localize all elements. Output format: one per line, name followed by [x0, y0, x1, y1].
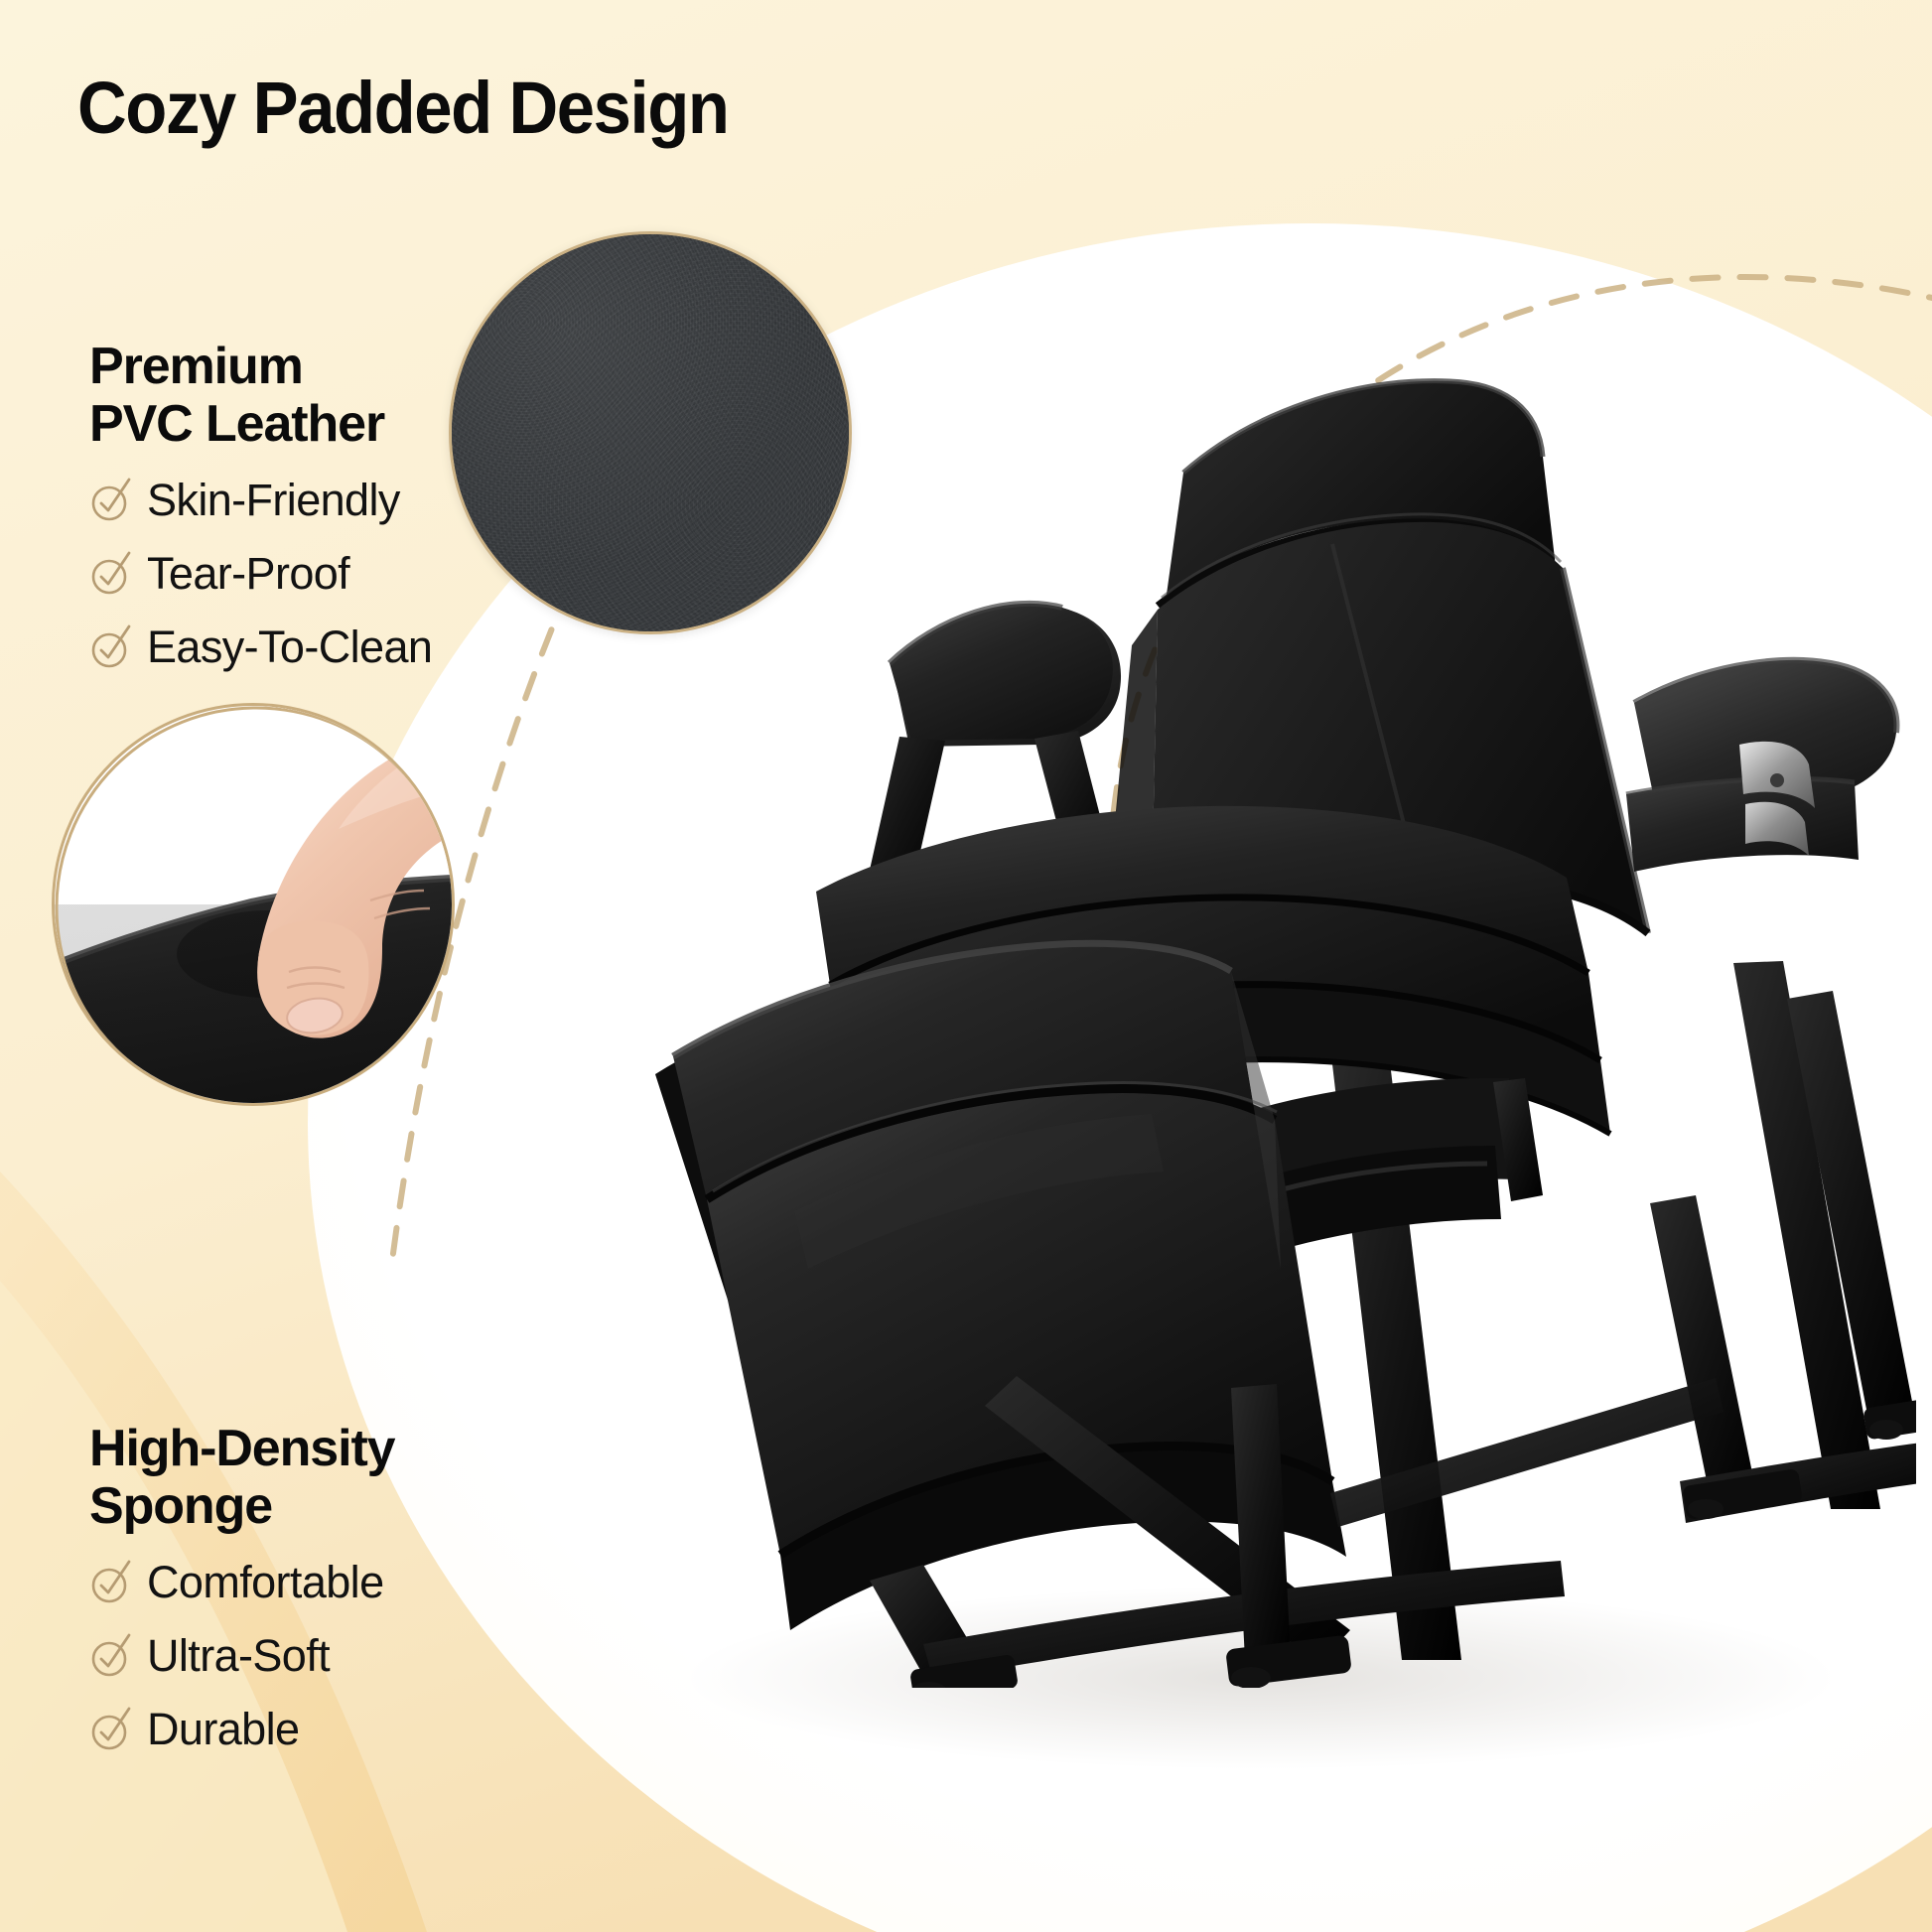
feature-heading: Premium PVC Leather [89, 338, 432, 453]
list-item: Skin-Friendly [89, 469, 432, 530]
list-item-label: Comfortable [147, 1560, 384, 1604]
check-circle-icon [89, 1705, 133, 1752]
feature-high-density-sponge: High-Density Sponge Comfortable Ultra-So… [89, 1420, 394, 1759]
list-item-label: Skin-Friendly [147, 478, 400, 522]
list-item: Comfortable [89, 1551, 394, 1612]
feature-heading: High-Density Sponge [89, 1420, 394, 1535]
check-circle-icon [89, 549, 133, 597]
list-item: Ultra-Soft [89, 1624, 394, 1686]
check-circle-icon [89, 476, 133, 523]
check-circle-icon [89, 622, 133, 670]
chair-illustration [596, 278, 1916, 1688]
feature-bullet-list: Comfortable Ultra-Soft Durable [89, 1551, 394, 1759]
feature-premium-pvc-leather: Premium PVC Leather Skin-Friendly Tear-P… [89, 338, 432, 677]
list-item-label: Easy-To-Clean [147, 624, 432, 669]
hand-pressing-cushion-closeup [52, 703, 455, 1106]
list-item: Durable [89, 1698, 394, 1759]
list-item-label: Durable [147, 1707, 299, 1751]
list-item-label: Ultra-Soft [147, 1633, 330, 1678]
product-image-facial-bed-chair [596, 278, 1916, 1688]
hand-cushion-illustration [55, 706, 455, 1106]
check-circle-icon [89, 1558, 133, 1605]
feature-bullet-list: Skin-Friendly Tear-Proof Easy-To-Clean [89, 469, 432, 677]
page-title: Cozy Padded Design [77, 66, 729, 150]
list-item: Tear-Proof [89, 542, 432, 604]
list-item: Easy-To-Clean [89, 616, 432, 677]
marketing-banner: Cozy Padded Design [0, 0, 1932, 1932]
list-item-label: Tear-Proof [147, 551, 349, 596]
check-circle-icon [89, 1631, 133, 1679]
